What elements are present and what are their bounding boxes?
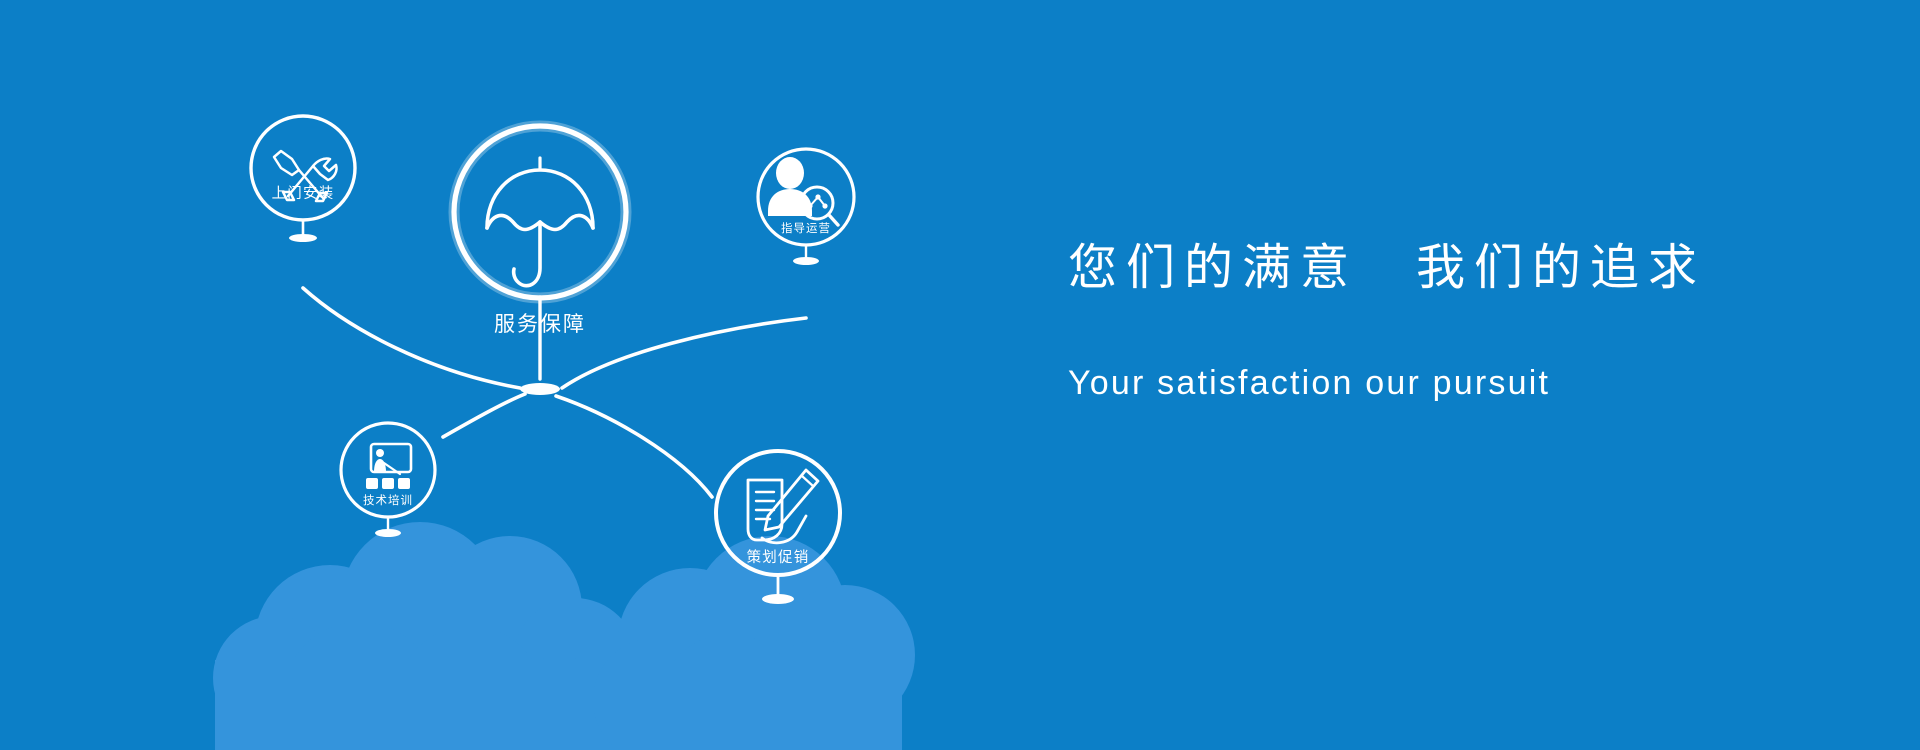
node-onsite-installation[interactable]: 上门安装	[251, 116, 355, 242]
operations-node-base	[793, 257, 819, 265]
subtitle: Your satisfaction our pursuit	[1068, 361, 1768, 405]
promotion-node-base	[762, 594, 794, 604]
install-node-base	[289, 234, 317, 242]
service-banner: 服务保障 上门安装	[0, 0, 1920, 750]
umbrella-icon	[487, 158, 593, 286]
node-technical-training[interactable]: 技术培训	[341, 423, 435, 537]
node-promotion-planning[interactable]: 策划促销	[716, 451, 840, 604]
node-center-service-guarantee[interactable]: 服务保障	[454, 126, 626, 395]
training-board-icon	[366, 444, 411, 489]
document-pencil-icon	[748, 470, 818, 543]
center-node-base	[520, 383, 560, 395]
training-node-label: 技术培训	[363, 493, 413, 507]
headline: 您们的满意 我们的追求	[1068, 238, 1768, 299]
training-node-base	[375, 529, 401, 537]
install-node-ring	[251, 116, 355, 220]
connector-install-to-hub	[303, 288, 520, 388]
operations-node-label: 指导运营	[781, 221, 831, 235]
person-analytics-icon	[768, 157, 838, 225]
promotion-node-label: 策划促销	[747, 549, 810, 566]
marketing-text-block: 您们的满意 我们的追求 Your satisfaction our pursui…	[1068, 238, 1768, 405]
install-node-label: 上门安装	[272, 185, 335, 202]
connector-promotion-to-hub	[556, 396, 712, 497]
node-operations-guidance[interactable]: 指导运营	[758, 149, 854, 265]
connector-operations-to-hub	[562, 318, 806, 388]
connector-training-to-hub	[443, 394, 525, 437]
